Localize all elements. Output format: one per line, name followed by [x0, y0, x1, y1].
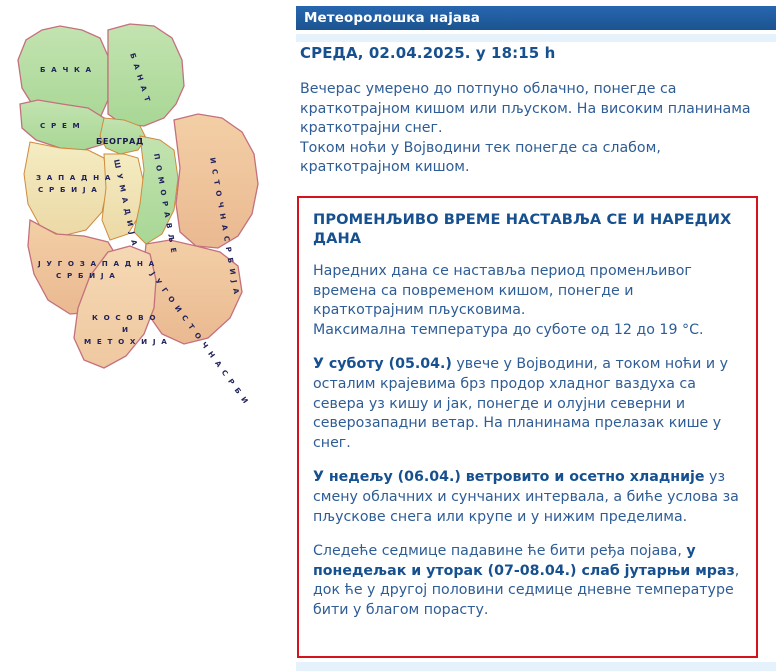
map-label-backa: Б А Ч К А — [40, 65, 93, 74]
bottom-strip — [296, 662, 776, 671]
map-label-jugozapadna-srbija: Ј У Г О З А П А Д Н А — [37, 259, 156, 268]
map-label-srem: С Р Е М — [40, 121, 81, 130]
map-label-zapadna-srbija-line2: С Р Б И Ј А — [38, 185, 98, 194]
map-label-kosovo: К О С О В О — [92, 313, 157, 322]
intro-text-block: Вечерас умерено до потпуно облачно, поне… — [300, 80, 766, 178]
alert-paragraph-saturday: У суботу (05.04.) увече у Војводини, а т… — [313, 355, 742, 453]
outlook-body: Наредних дана се наставља период променљ… — [313, 263, 692, 318]
map-label-zapadna-srbija: З А П А Д Н А — [36, 173, 112, 182]
map-panel: Б А Ч К А Б А Н А Т С Р Е М БЕОГРАД З А … — [0, 0, 290, 671]
page-title: Метеоролошка најава — [304, 10, 480, 26]
map-label-beograd: БЕОГРАД — [96, 136, 144, 146]
weather-alert-box: ПРОМЕНЉИВО ВРЕМЕ НАСТАВЉА СЕ И НАРЕДИХ Д… — [297, 196, 758, 658]
outlook-temperature: Максимална температура до суботе од 12 д… — [313, 322, 704, 338]
map-label-jugozapadna-srbija-line2: С Р Б И Ј А — [56, 271, 116, 280]
alert-paragraph-nextweek: Следеће седмице падавине ће бити ређа по… — [313, 542, 742, 620]
intro-paragraph-2: Током ноћи у Војводини тек понегде са сл… — [300, 139, 766, 178]
forecast-content-panel: Метеоролошка најава СРЕДА, 02.04.2025. у… — [290, 0, 776, 671]
sunday-lead: У недељу (06.04.) ветровито и осетно хла… — [313, 469, 705, 485]
serbia-region-map: Б А Ч К А Б А Н А Т С Р Е М БЕОГРАД З А … — [4, 8, 290, 403]
alert-paragraph-outlook: Наредних дана се наставља период променљ… — [313, 262, 742, 340]
title-understrip — [296, 34, 776, 42]
map-region-banat — [108, 24, 184, 126]
alert-heading: ПРОМЕНЉИВО ВРЕМЕ НАСТАВЉА СЕ И НАРЕДИХ Д… — [313, 210, 742, 248]
saturday-lead: У суботу (05.04.) — [313, 356, 452, 372]
map-label-metohija: М Е Т О Х И Ј А — [84, 337, 168, 346]
issue-datetime: СРЕДА, 02.04.2025. у 18:15 h — [300, 44, 768, 62]
intro-paragraph-1: Вечерас умерено до потпуно облачно, поне… — [300, 80, 766, 139]
map-label-kosovo-i: И — [122, 325, 130, 334]
page-title-bar: Метеоролошка најава — [296, 6, 776, 30]
nextweek-pre: Следеће седмице падавине ће бити ређа по… — [313, 543, 686, 559]
alert-paragraph-sunday: У недељу (06.04.) ветровито и осетно хла… — [313, 468, 742, 527]
